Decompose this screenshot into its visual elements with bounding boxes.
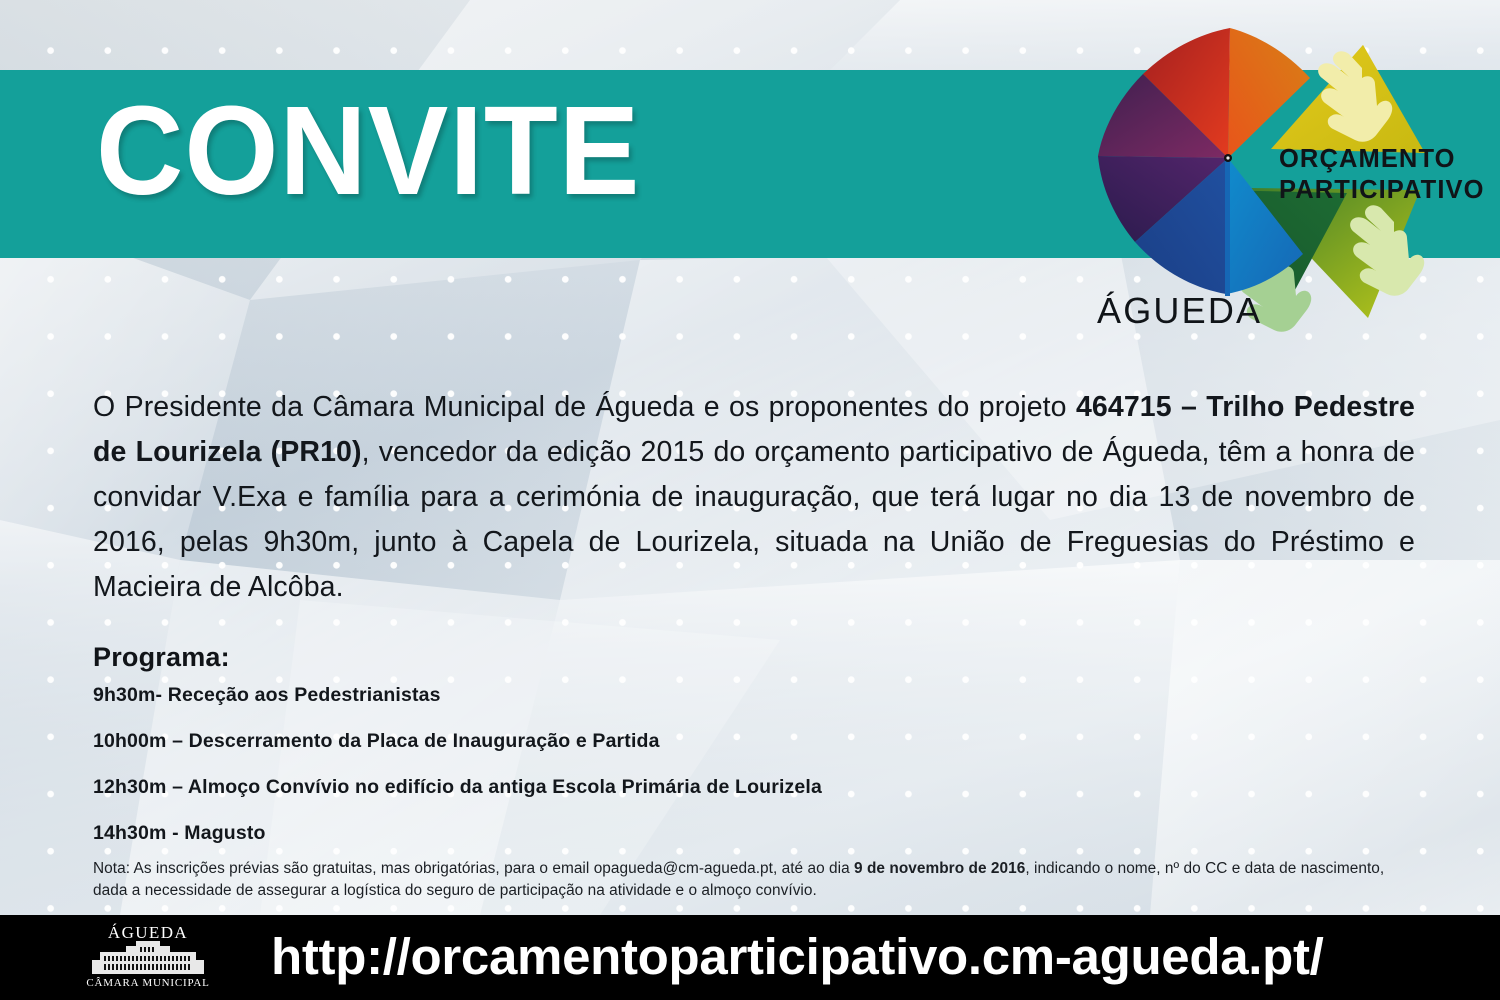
- program-item: 14h30m - Magusto: [93, 822, 1393, 845]
- op-logo-line2: PARTICIPATIVO: [1279, 176, 1485, 204]
- camara-municipal-logo: ÁGUEDA: [78, 922, 218, 994]
- invitation-poster: CONVITE: [0, 0, 1500, 1000]
- program-item: 10h00m – Descerramento da Placa de Inaug…: [93, 730, 1393, 753]
- invitation-paragraph: O Presidente da Câmara Municipal de Águe…: [93, 385, 1415, 610]
- note-deadline: 9 de novembro de 2016: [854, 860, 1025, 877]
- program-heading: Programa:: [93, 642, 230, 673]
- website-url[interactable]: http://orcamentoparticipativo.cm-agueda.…: [271, 925, 1324, 989]
- op-logo-line1: ORÇAMENTO: [1279, 145, 1456, 173]
- op-logo-municipality: ÁGUEDA: [1097, 290, 1262, 331]
- program-list: 9h30m- Receção aos Pedestrianistas 10h00…: [93, 684, 1393, 868]
- orcamento-participativo-logo: ORÇAMENTO PARTICIPATIVO ÁGUEDA: [1085, 18, 1500, 338]
- note-part-1: Nota: As inscrições prévias são gratuita…: [93, 860, 854, 877]
- program-item: 12h30m – Almoço Convívio no edifício da …: [93, 776, 1393, 799]
- program-item: 9h30m- Receção aos Pedestrianistas: [93, 684, 1393, 707]
- cm-logo-title: ÁGUEDA: [108, 923, 188, 942]
- cm-logo-subtitle: CÂMARA MUNICIPAL: [86, 977, 209, 989]
- registration-note: Nota: As inscrições prévias são gratuita…: [93, 858, 1415, 902]
- paragraph-part-1: O Presidente da Câmara Municipal de Águe…: [93, 391, 1076, 423]
- page-title: CONVITE: [96, 88, 640, 214]
